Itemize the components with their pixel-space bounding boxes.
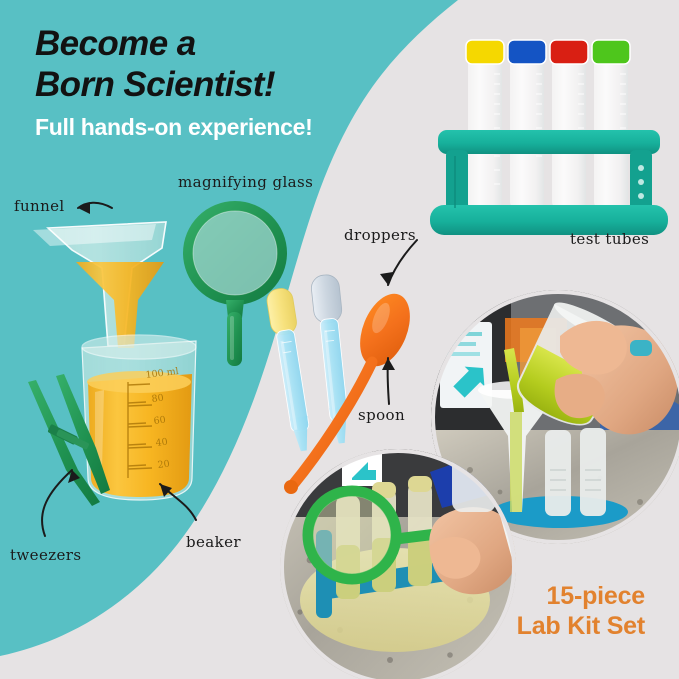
label-funnel: funnel [14,197,65,215]
label-tweezers: tweezers [10,546,81,564]
headline-line-1: Become a [35,24,455,65]
headline-line-2: Born Scientist! [35,65,455,106]
caption-line-1: 15-piece [517,582,645,612]
caption-line-2: Lab Kit Set [517,612,645,642]
label-beaker: beaker [186,533,241,551]
product-graphic: Become a Born Scientist! Full hands-on e… [0,0,679,679]
headline-block: Become a Born Scientist! Full hands-on e… [35,24,455,141]
label-magnifying-glass: magnifying glass [178,173,313,191]
label-droppers: droppers [344,226,416,244]
label-test-tubes: test tubes [570,230,649,248]
headline-subline: Full hands-on experience! [35,114,455,141]
product-caption: 15-piece Lab Kit Set [517,582,645,641]
label-spoon: spoon [358,406,405,424]
